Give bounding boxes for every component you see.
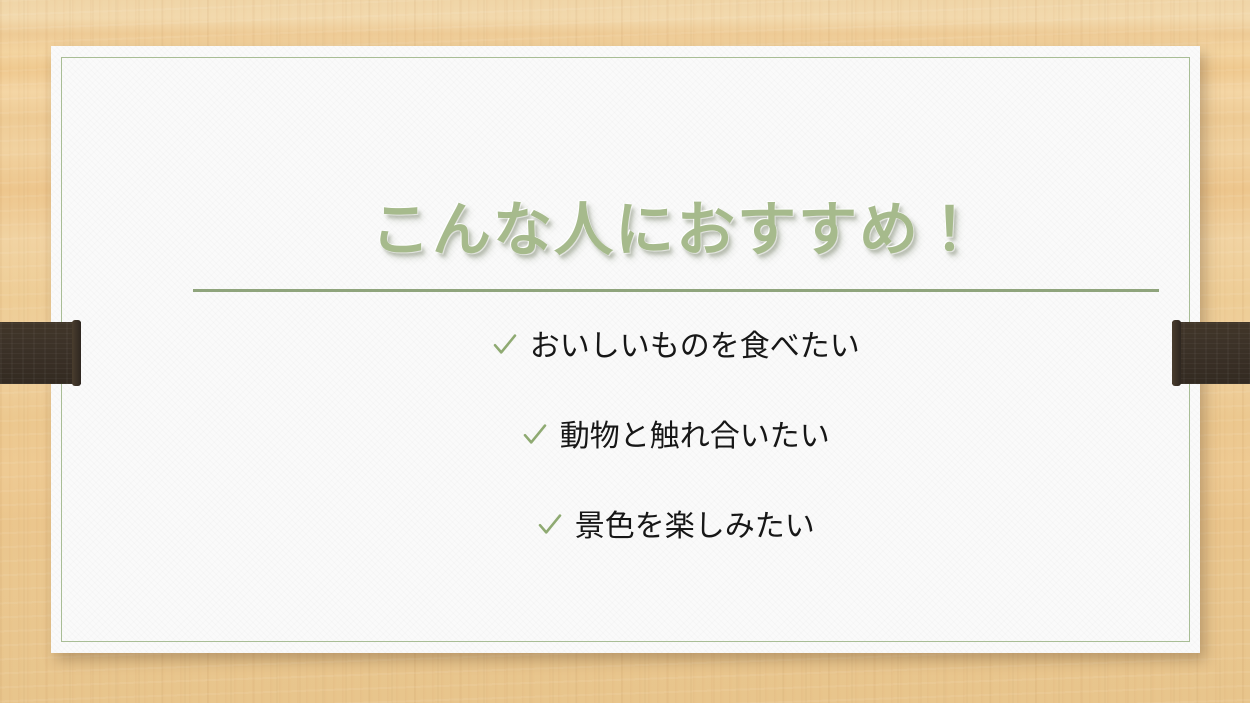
list-item: 景色を楽しみたい — [193, 512, 1159, 544]
slide-card: こんな人におすすめ！ おいしいものを食べたい 動物と触れ合いたい — [51, 46, 1200, 653]
list-item-label: 動物と触れ合いたい — [560, 419, 830, 454]
list-item-label: 景色を楽しみたい — [575, 509, 815, 544]
check-icon — [537, 512, 563, 544]
slide-canvas: こんな人におすすめ！ おいしいものを食べたい 動物と触れ合いたい — [0, 0, 1250, 703]
slide-title: こんな人におすすめ！ — [193, 196, 1159, 264]
check-icon — [522, 422, 548, 454]
clip-cap-left — [72, 320, 81, 386]
decorative-clip-right — [1172, 322, 1250, 384]
decorative-clip-left — [0, 322, 81, 384]
bullet-list: おいしいものを食べたい 動物と触れ合いたい 景色を楽しみたい — [193, 332, 1159, 544]
title-block: こんな人におすすめ！ — [193, 196, 1159, 264]
clip-cap-right — [1172, 320, 1181, 386]
title-divider — [193, 289, 1159, 292]
list-item: おいしいものを食べたい — [193, 332, 1159, 364]
check-icon — [492, 332, 518, 364]
list-item-label: おいしいものを食べたい — [530, 329, 860, 364]
list-item: 動物と触れ合いたい — [193, 422, 1159, 454]
